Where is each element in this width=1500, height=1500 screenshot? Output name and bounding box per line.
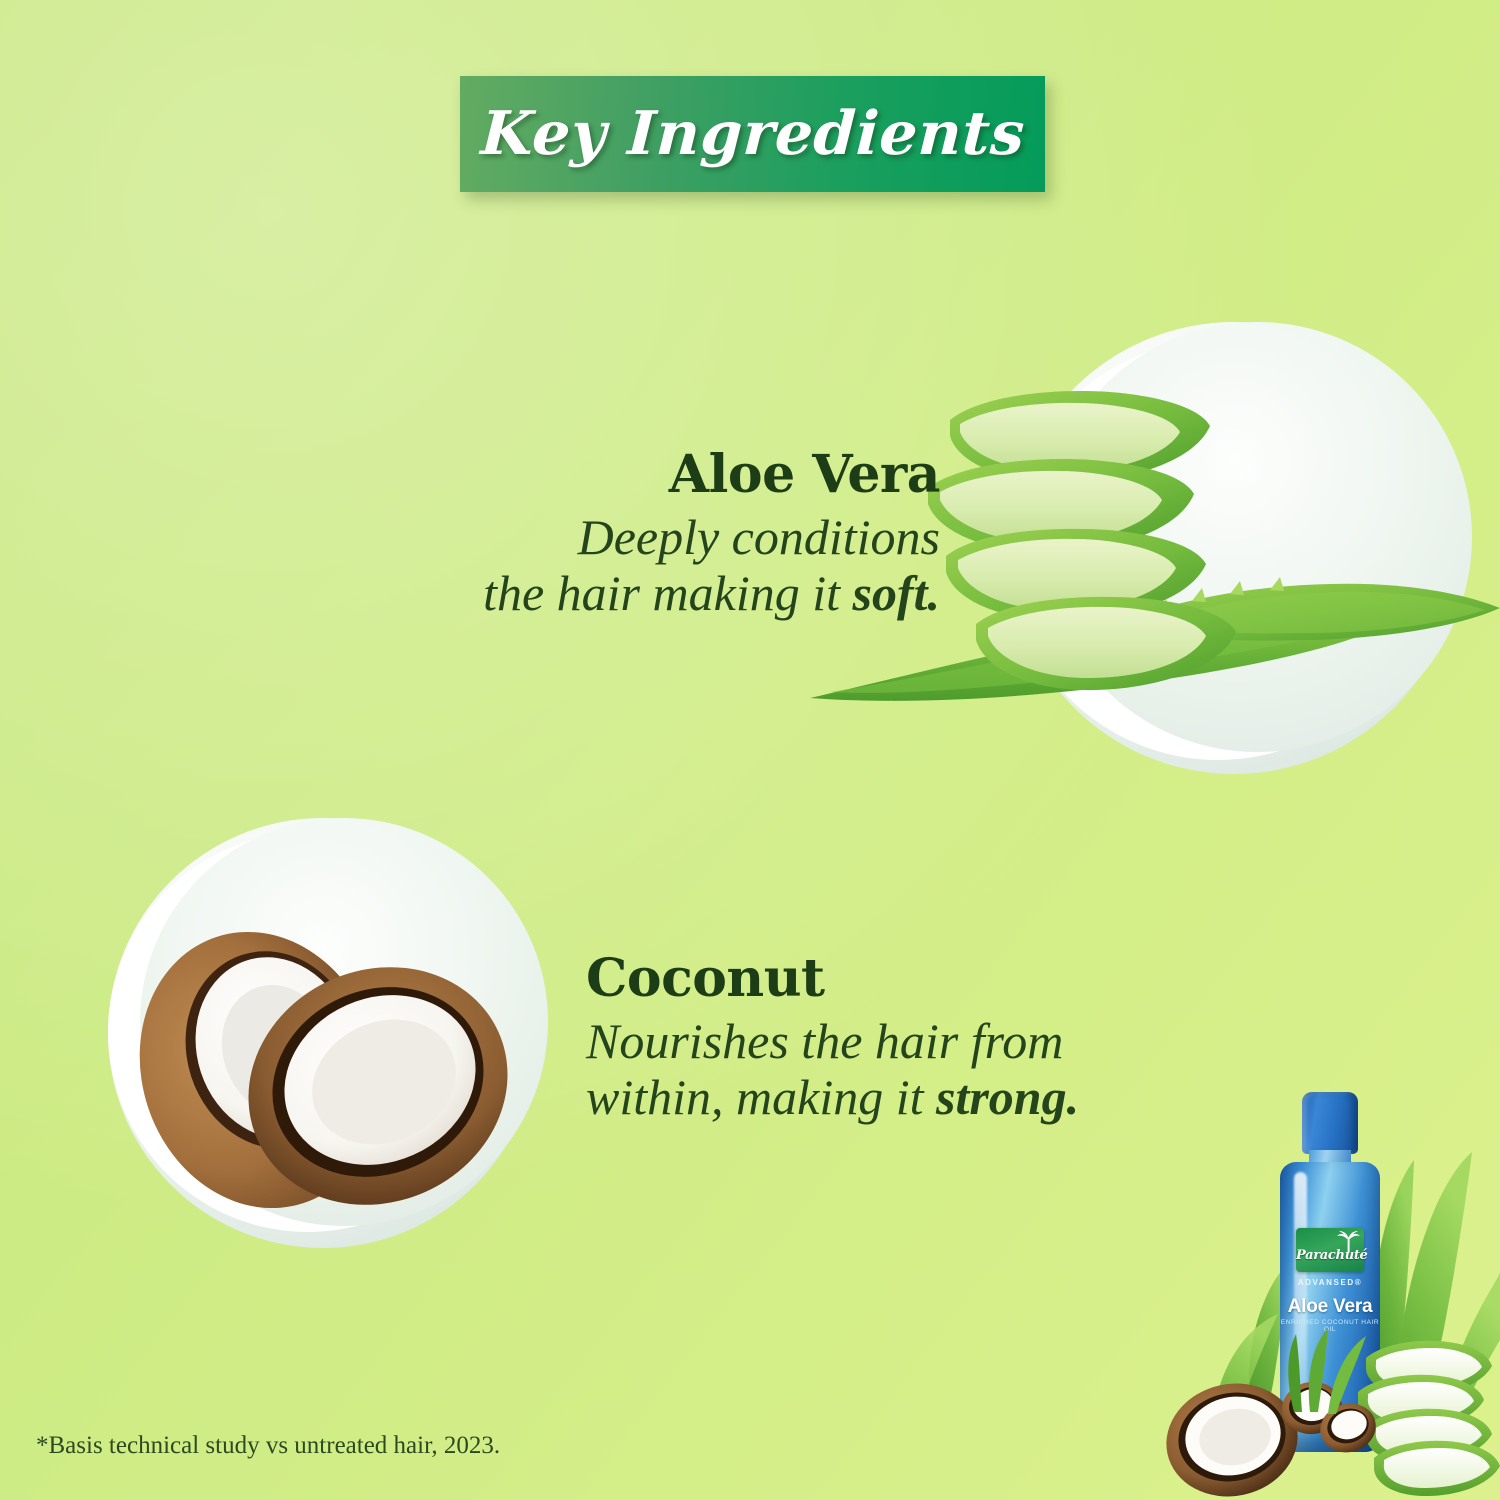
aloe-desc-emphasis: soft. [853,565,941,621]
ingredient-block-aloe-vera: Aloe Vera Deeply conditions the hair mak… [300,448,940,621]
ingredient-description-aloe-vera: Deeply conditions the hair making it sof… [300,509,940,621]
aloe-slice-4 [976,597,1236,690]
product-shot: Parachuté ADVANSED® Aloe Vera ENRICHED C… [1160,1040,1500,1500]
aloe-desc-line-1: Deeply conditions [300,509,940,565]
page-title: Key Ingredients [479,99,1026,169]
coconut-front-large [1160,1372,1308,1500]
coconut-desc-emphasis: strong. [936,1069,1079,1125]
key-ingredients-banner: Key Ingredients [460,76,1045,192]
aloe-desc-line2-prefix: the hair making it [483,565,852,621]
coconut-photo [110,900,540,1230]
ingredient-name-aloe-vera: Aloe Vera [300,448,940,501]
footnote-disclaimer: *Basis technical study vs untreated hair… [36,1432,500,1460]
aloe-slices-front [1358,1341,1500,1496]
key-ingredients-poster: Key Ingredients [0,0,1500,1500]
aloe-desc-line-2: the hair making it soft. [300,565,940,621]
ingredient-name-coconut: Coconut [586,952,1266,1005]
coconut-desc-line2-prefix: within, making it [586,1069,936,1125]
